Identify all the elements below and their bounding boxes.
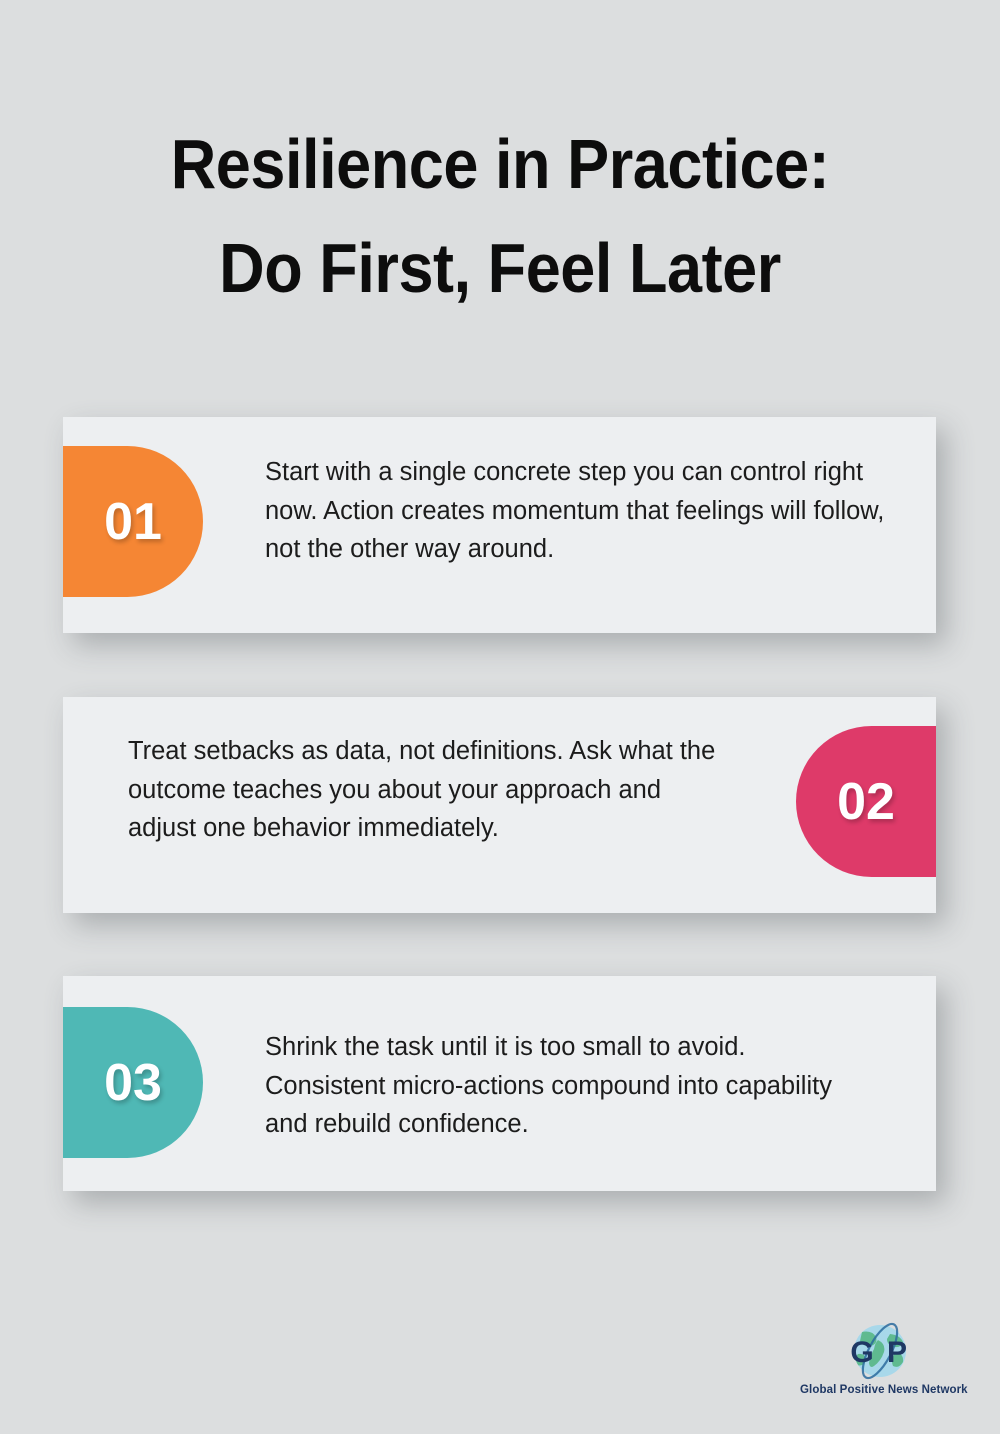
step-number-label-02: 02 — [837, 776, 895, 828]
logo-letter-p: P — [887, 1336, 907, 1369]
step-number-label-03: 03 — [104, 1057, 162, 1109]
step-number-badge-02: 02 — [796, 726, 936, 877]
step-number-label-01: 01 — [104, 496, 162, 548]
step-card-02: 02 Treat setbacks as data, not definitio… — [63, 697, 936, 913]
brand-logo: G P Global Positive News Network — [800, 1320, 960, 1410]
step-description-02: Treat setbacks as data, not definitions.… — [128, 732, 728, 848]
step-number-badge-01: 01 — [63, 446, 203, 597]
brand-name: Global Positive News Network — [800, 1384, 960, 1396]
logo-letter-g: G — [850, 1336, 873, 1369]
step-card-01: 01 Start with a single concrete step you… — [63, 417, 936, 633]
step-description-01: Start with a single concrete step you ca… — [265, 453, 885, 569]
globe-icon: G P — [840, 1320, 920, 1382]
page-title-line-2: Do First, Feel Later — [50, 216, 950, 320]
step-number-badge-03: 03 — [63, 1007, 203, 1158]
step-description-03: Shrink the task until it is too small to… — [265, 1028, 865, 1144]
page-title-line-1: Resilience in Practice: — [50, 112, 950, 216]
page-title: Resilience in Practice: Do First, Feel L… — [0, 112, 1000, 320]
step-card-03: 03 Shrink the task until it is too small… — [63, 976, 936, 1191]
